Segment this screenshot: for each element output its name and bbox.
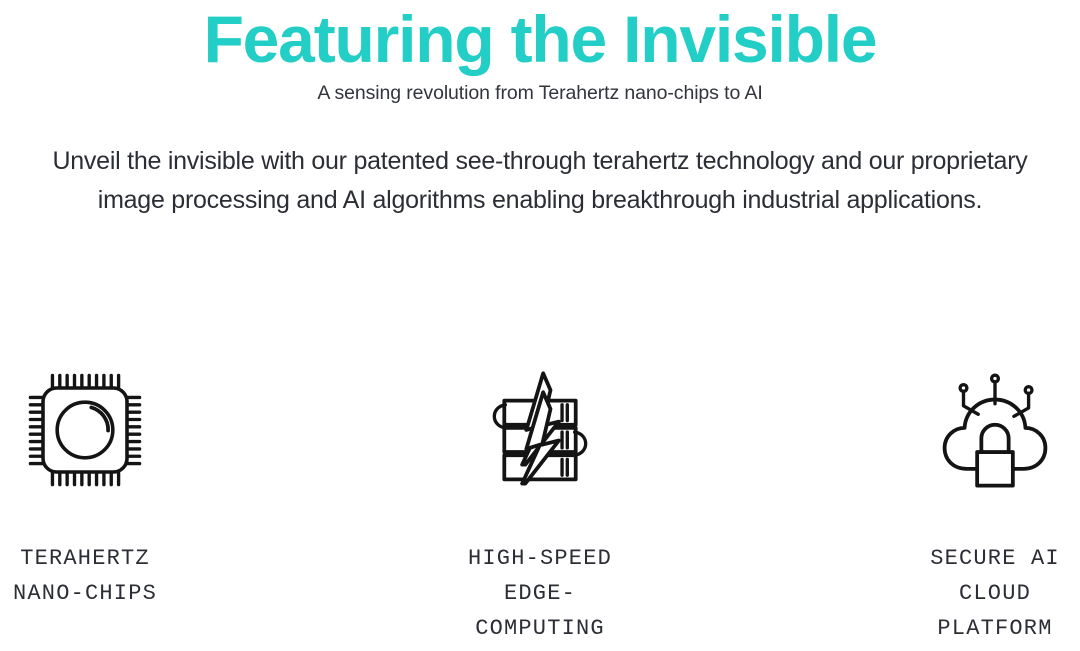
feature-item-high-speed-edge-computing[interactable]: HIGH-SPEED EDGE- COMPUTING [360, 355, 720, 646]
intro-paragraph: Unveil the invisible with our patented s… [18, 142, 1062, 220]
hero-section: Featuring the Invisible A sensing revolu… [0, 0, 1080, 106]
feature-list: TERAHERTZ NANO-CHIPS [0, 355, 1080, 646]
feature-label: SECURE AI CLOUD PLATFORM [930, 541, 1060, 646]
cloud-lock-icon [925, 355, 1065, 505]
landing-page: Featuring the Invisible A sensing revolu… [0, 0, 1080, 651]
feature-item-terahertz-nano-chips[interactable]: TERAHERTZ NANO-CHIPS [0, 355, 265, 611]
feature-label: HIGH-SPEED EDGE- COMPUTING [468, 541, 612, 646]
page-title: Featuring the Invisible [0, 0, 1080, 76]
page-subtitle: A sensing revolution from Terahertz nano… [0, 76, 1080, 106]
feature-item-secure-ai-cloud-platform[interactable]: SECURE AI CLOUD PLATFORM [815, 355, 1080, 646]
server-lightning-icon [470, 355, 610, 505]
microchip-icon [15, 355, 155, 505]
feature-label: TERAHERTZ NANO-CHIPS [13, 541, 157, 611]
